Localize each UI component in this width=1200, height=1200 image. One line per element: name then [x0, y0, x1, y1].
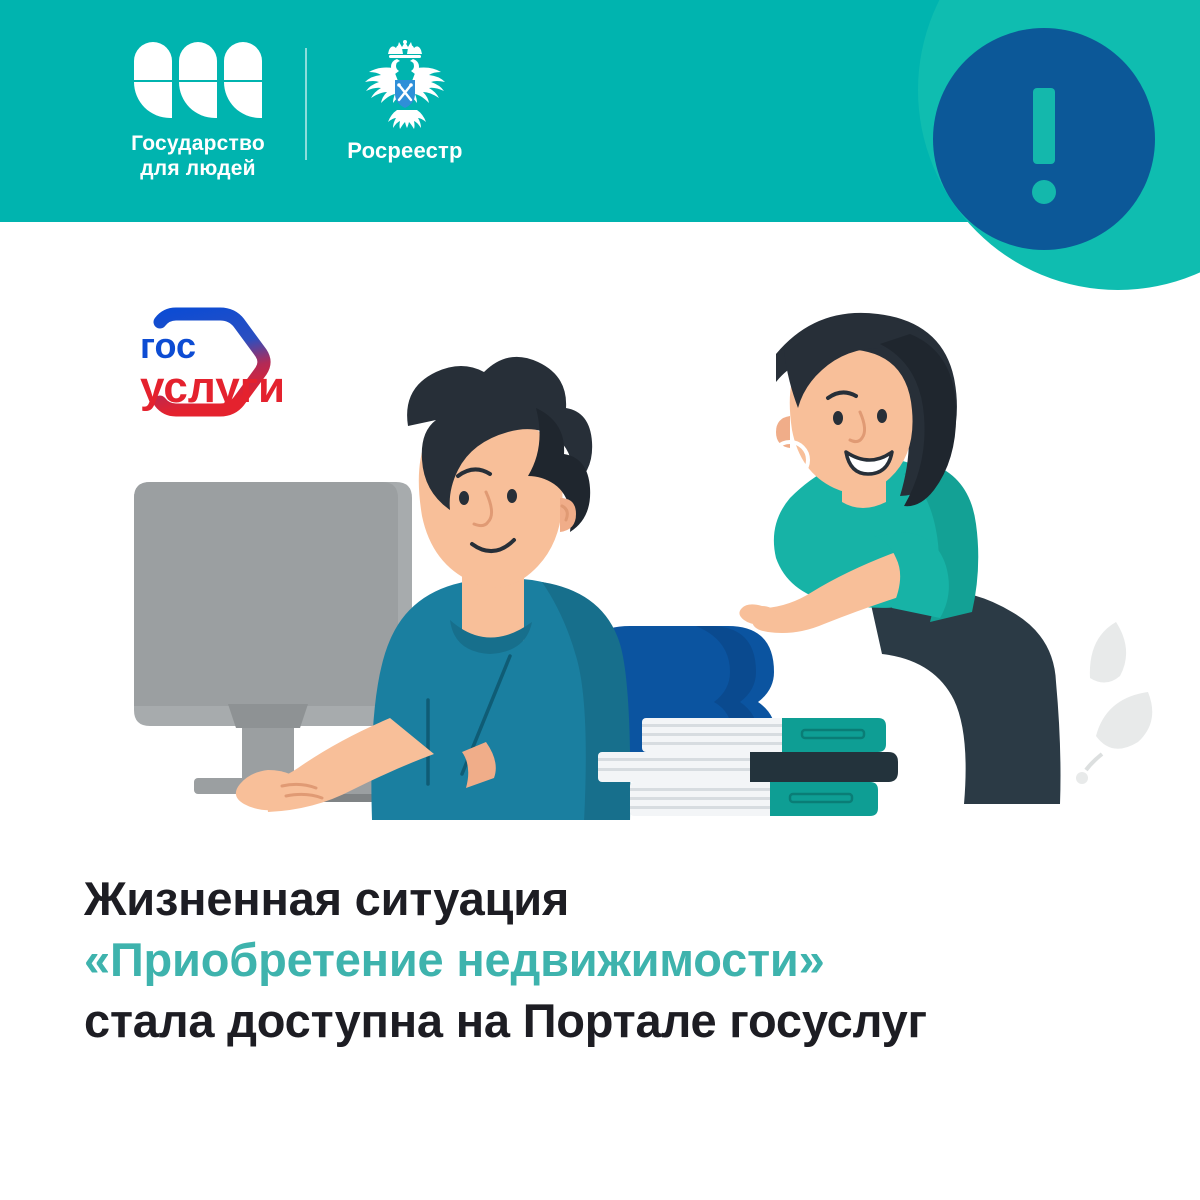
- headline-line-3: стала доступна на Портале госуслуг: [84, 990, 1144, 1051]
- three-figures-mark: [134, 42, 262, 118]
- header-divider: [305, 48, 307, 160]
- poster-canvas: Государство для людей: [0, 0, 1200, 1200]
- stack-of-books: [598, 718, 898, 816]
- gosudarstvo-label-line1: Государство: [112, 132, 284, 157]
- headline-block: Жизненная ситуация «Приобретение недвижи…: [84, 868, 1144, 1051]
- headline-line-1: Жизненная ситуация: [84, 868, 1144, 929]
- double-headed-eagle-emblem: [353, 40, 457, 132]
- gosuslugi-line1: гос: [140, 325, 196, 366]
- headline-line-2: «Приобретение недвижимости»: [84, 929, 1144, 990]
- gosudarstvo-label-line2: для людей: [112, 157, 284, 182]
- plant-leaves: [1076, 622, 1152, 784]
- exclamation-mark-icon: [933, 28, 1155, 250]
- rosreestr-logo: Росреестр: [330, 40, 480, 164]
- gosuslugi-line2: услуги: [140, 363, 285, 412]
- exclamation-dot: [1032, 180, 1056, 204]
- rosreestr-label: Росреестр: [330, 138, 480, 164]
- gosuslugi-logo: гос услуги: [118, 288, 290, 448]
- exclamation-bar: [1033, 88, 1055, 164]
- gosudarstvo-logo: Государство для людей: [112, 42, 284, 182]
